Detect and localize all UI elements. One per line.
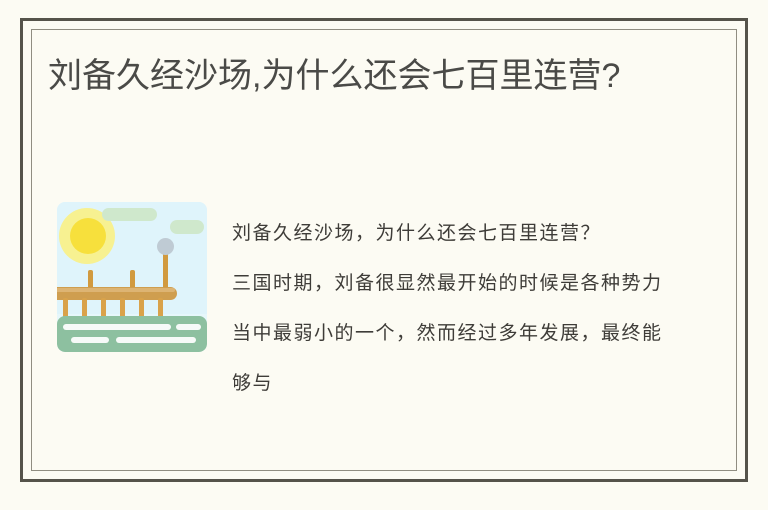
wave-line	[116, 337, 196, 343]
sun-icon	[70, 218, 106, 254]
cloud-icon	[102, 208, 157, 221]
lamp-post-light-icon	[157, 238, 174, 255]
article-thumbnail	[57, 202, 207, 352]
wave-line	[63, 324, 171, 330]
cloud-icon	[170, 220, 204, 234]
wave-line	[176, 324, 201, 330]
pier-deck-highlight	[57, 288, 175, 292]
article-content-row: 刘备久经沙场，为什么还会七百里连营？ 三国时期，刘备很显然最开始的时候是各种势力…	[57, 202, 677, 452]
wave-line	[71, 337, 109, 343]
page-title: 刘备久经沙场,为什么还会七百里连营?	[48, 52, 688, 100]
article-body-text: 刘备久经沙场，为什么还会七百里连营？ 三国时期，刘备很显然最开始的时候是各种势力…	[232, 208, 677, 408]
article-card-page: 刘备久经沙场,为什么还会七百里连营? 刘备	[0, 0, 768, 510]
water-area	[57, 316, 207, 352]
